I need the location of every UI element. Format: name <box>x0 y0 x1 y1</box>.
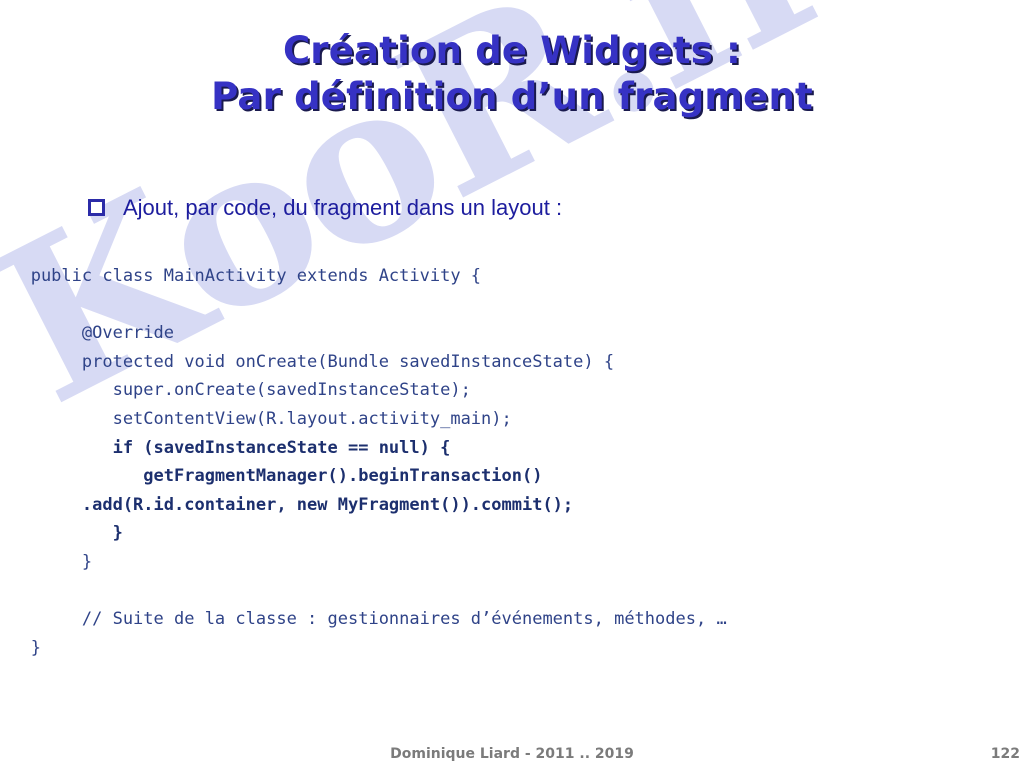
code-line <box>0 291 1024 320</box>
code-line: super.onCreate(savedInstanceState); <box>0 376 1024 405</box>
code-line: } <box>0 634 1024 663</box>
code-line: protected void onCreate(Bundle savedInst… <box>0 348 1024 377</box>
bullet-item: Ajout, par code, du fragment dans un lay… <box>88 194 562 222</box>
footer-author-label: Dominique Liard - 2011 .. 2019 <box>0 744 1024 764</box>
code-line: // Suite de la classe : gestionnaires d’… <box>0 605 1024 634</box>
code-line: } <box>0 519 1024 548</box>
slide-title-line-2: Par définition d’un fragment <box>0 74 1024 120</box>
code-line: public class MainActivity extends Activi… <box>0 262 1024 291</box>
code-line: getFragmentManager().beginTransaction() <box>0 462 1024 491</box>
code-line: setContentView(R.layout.activity_main); <box>0 405 1024 434</box>
footer-page-number: 122 <box>991 744 1020 764</box>
code-line <box>0 577 1024 606</box>
slide-title: Création de Widgets : Par définition d’u… <box>0 28 1024 120</box>
code-block: public class MainActivity extends Activi… <box>0 262 1024 662</box>
code-line: if (savedInstanceState == null) { <box>0 434 1024 463</box>
hollow-square-bullet-icon <box>88 199 105 216</box>
bullet-item-label: Ajout, par code, du fragment dans un lay… <box>123 194 562 222</box>
code-line: .add(R.id.container, new MyFragment()).c… <box>0 491 1024 520</box>
code-line: @Override <box>0 319 1024 348</box>
code-line: } <box>0 548 1024 577</box>
presentation-slide: KooR.fr Création de Widgets : Par défini… <box>0 0 1024 768</box>
slide-title-line-1: Création de Widgets : <box>0 28 1024 74</box>
slide-footer: Dominique Liard - 2011 .. 2019 122 <box>0 744 1024 768</box>
